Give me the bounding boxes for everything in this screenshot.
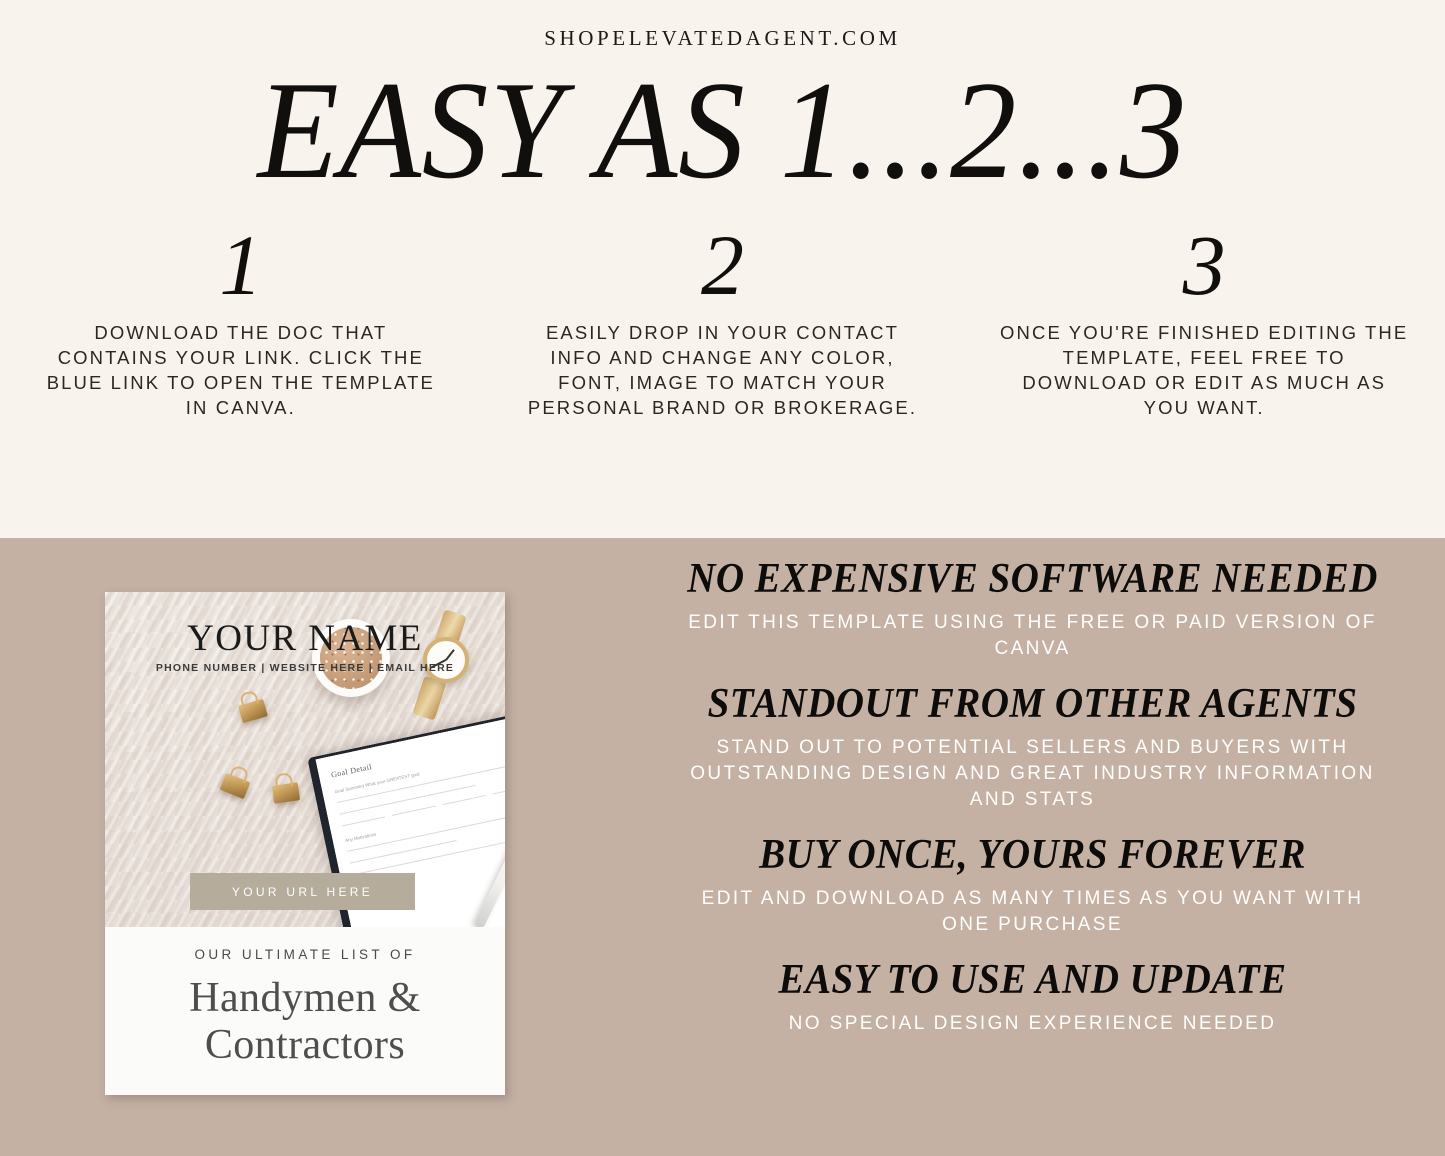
step-number-2: 2 (701, 222, 744, 308)
benefit-body-4: NO SPECIAL DESIGN EXPERIENCE NEEDED (683, 1011, 1383, 1037)
benefit-item-1: NO EXPENSIVE SOFTWARE NEEDED EDIT THIS T… (620, 556, 1445, 662)
benefit-body-3: EDIT AND DOWNLOAD AS MANY TIMES AS YOU W… (683, 886, 1383, 938)
step-item-1: 1 DOWNLOAD THE DOC THAT CONTAINS YOUR LI… (0, 222, 482, 432)
poster-page: SHOPELEVATEDAGENT.COM EASY AS 1...2...3 … (0, 0, 1445, 1156)
step-number-1: 1 (219, 222, 262, 308)
notebook-rule (392, 806, 435, 816)
top-section: SHOPELEVATEDAGENT.COM EASY AS 1...2...3 … (0, 0, 1445, 538)
product-mockup-card: Goal Detail Goal Summary What your GREAT… (105, 592, 505, 1095)
notebook-rule (492, 784, 505, 794)
benefit-item-4: EASY TO USE AND UPDATE NO SPECIAL DESIGN… (620, 957, 1445, 1037)
page-title: EASY AS 1...2...3 (36, 66, 1409, 196)
step-item-2: 2 EASILY DROP IN YOUR CONTACT INFO AND C… (482, 222, 964, 432)
benefit-heading-3: BUY ONCE, YOURS FOREVER (649, 832, 1416, 878)
step-number-3: 3 (1183, 222, 1226, 308)
benefit-body-1: EDIT THIS TEMPLATE USING THE FREE OR PAI… (683, 610, 1383, 662)
step-text-2: EASILY DROP IN YOUR CONTACT INFO AND CHA… (518, 320, 928, 420)
binder-clip-icon-3 (272, 782, 300, 803)
notebook-column-rules (342, 784, 505, 826)
mockup-title-line-1: Handymen & (105, 975, 505, 1022)
mockup-title: Handymen & Contractors (105, 975, 505, 1069)
notebook-rule (350, 840, 457, 864)
benefit-heading-2: STANDOUT FROM OTHER AGENTS (649, 681, 1416, 727)
mockup-contact-line: PHONE NUMBER | WEBSITE HERE | EMAIL HERE (105, 662, 505, 674)
steps-row: 1 DOWNLOAD THE DOC THAT CONTAINS YOUR LI… (0, 222, 1445, 432)
mockup-kicker: OUR ULTIMATE LIST OF (105, 947, 505, 962)
mockup-title-block: OUR ULTIMATE LIST OF Handymen & Contract… (105, 927, 505, 1095)
step-text-1: DOWNLOAD THE DOC THAT CONTAINS YOUR LINK… (36, 320, 446, 420)
benefits-list: NO EXPENSIVE SOFTWARE NEEDED EDIT THIS T… (620, 556, 1445, 1037)
benefit-item-3: BUY ONCE, YOURS FOREVER EDIT AND DOWNLOA… (620, 832, 1445, 938)
benefit-heading-1: NO EXPENSIVE SOFTWARE NEEDED (649, 556, 1416, 602)
step-item-3: 3 ONCE YOU'RE FINISHED EDITING THE TEMPL… (963, 222, 1445, 432)
benefit-item-2: STANDOUT FROM OTHER AGENTS STAND OUT TO … (620, 681, 1445, 813)
mockup-url-badge: YOUR URL HERE (190, 873, 415, 910)
benefit-body-2: STAND OUT TO POTENTIAL SELLERS AND BUYER… (683, 735, 1383, 813)
mockup-title-line-2: Contractors (105, 1022, 505, 1069)
benefit-heading-4: EASY TO USE AND UPDATE (649, 957, 1416, 1003)
notebook-rule (339, 785, 475, 815)
notebook-rule (342, 816, 385, 826)
step-text-3: ONCE YOU'RE FINISHED EDITING THE TEMPLAT… (999, 320, 1409, 420)
notebook-rule (442, 795, 485, 805)
bottom-section: Goal Detail Goal Summary What your GREAT… (0, 538, 1445, 1156)
mockup-name: YOUR NAME (105, 617, 505, 660)
site-url: SHOPELEVATEDAGENT.COM (0, 26, 1445, 51)
